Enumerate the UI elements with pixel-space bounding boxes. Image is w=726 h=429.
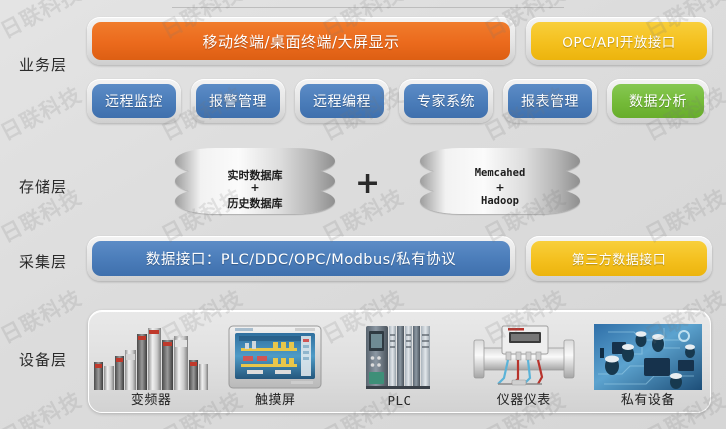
db-left-bottom-label: 历史数据库 <box>175 195 335 211</box>
db-right-plus-label: + <box>420 181 580 194</box>
layer-label-storage: 存储层 <box>0 176 86 197</box>
module-expert-system[interactable]: 专家系统 <box>404 84 488 118</box>
touchscreen-icon <box>213 321 337 393</box>
acquisition-data-interface-label: 数据接口：PLC/DDC/OPC/Modbus/私有协议 <box>140 248 462 269</box>
module-remote-monitoring[interactable]: 远程监控 <box>92 84 176 118</box>
device-item-touchscreen-label: 触摸屏 <box>255 393 296 409</box>
module-remote-monitoring-label: 远程监控 <box>99 91 169 111</box>
module-expert-system-label: 专家系统 <box>411 91 481 111</box>
module-remote-programming[interactable]: 远程编程 <box>300 84 384 118</box>
device-item-touchscreen[interactable]: 触摸屏 <box>213 308 337 412</box>
module-data-analysis[interactable]: 数据分析 <box>612 84 704 118</box>
module-report-management[interactable]: 报表管理 <box>508 84 592 118</box>
layer-label-acquisition: 采集层 <box>0 251 86 272</box>
module-data-analysis-label: 数据分析 <box>623 91 693 111</box>
flowmeter-icon <box>462 321 586 393</box>
plc-icon <box>337 321 461 393</box>
device-item-private[interactable]: 私有设备 <box>586 308 710 412</box>
module-alarm-management-label: 报警管理 <box>203 91 273 111</box>
device-item-inverter-label: 变频器 <box>131 393 172 409</box>
business-primary-openapi-label: OPC/API开放接口 <box>556 31 682 51</box>
acquisition-data-interface[interactable]: 数据接口：PLC/DDC/OPC/Modbus/私有协议 <box>92 241 510 276</box>
layer-label-device: 设备层 <box>0 349 86 370</box>
database-cylinder-right: Memcahed + Hadoop <box>420 148 580 222</box>
db-left-plus-label: + <box>175 181 335 194</box>
device-item-flowmeter-label: 仪器仪表 <box>497 393 551 409</box>
database-cylinder-left: 实时数据库 + 历史数据库 <box>175 148 335 222</box>
device-item-private-label: 私有设备 <box>621 393 675 409</box>
business-primary-terminals[interactable]: 移动终端/桌面终端/大屏显示 <box>92 22 510 60</box>
architecture-diagram: 业务层 存储层 采集层 设备层 移动终端/桌面终端/大屏显示 OPC/API开放… <box>0 0 726 429</box>
storage-joiner-plus: + <box>355 169 380 199</box>
module-alarm-management[interactable]: 报警管理 <box>196 84 280 118</box>
device-item-plc[interactable]: PLC <box>337 308 461 412</box>
device-layer-panel: 变频器 <box>88 310 711 413</box>
device-item-plc-label: PLC <box>387 393 411 409</box>
top-divider <box>172 7 564 8</box>
module-remote-programming-label: 远程编程 <box>307 91 377 111</box>
acquisition-third-party-interface[interactable]: 第三方数据接口 <box>531 241 707 276</box>
business-primary-terminals-label: 移动终端/桌面终端/大屏显示 <box>196 31 405 52</box>
layer-label-business: 业务层 <box>0 54 86 75</box>
db-right-bottom-label: Hadoop <box>420 195 580 207</box>
db-right-top-label: Memcahed <box>420 167 580 179</box>
circuit-board-icon <box>586 321 710 393</box>
acquisition-third-party-interface-label: 第三方数据接口 <box>566 249 673 268</box>
inverter-icon <box>89 321 213 393</box>
device-item-inverter[interactable]: 变频器 <box>89 308 213 412</box>
business-primary-openapi[interactable]: OPC/API开放接口 <box>531 22 707 60</box>
device-item-flowmeter[interactable]: 仪器仪表 <box>462 308 586 412</box>
module-report-management-label: 报表管理 <box>515 91 585 111</box>
